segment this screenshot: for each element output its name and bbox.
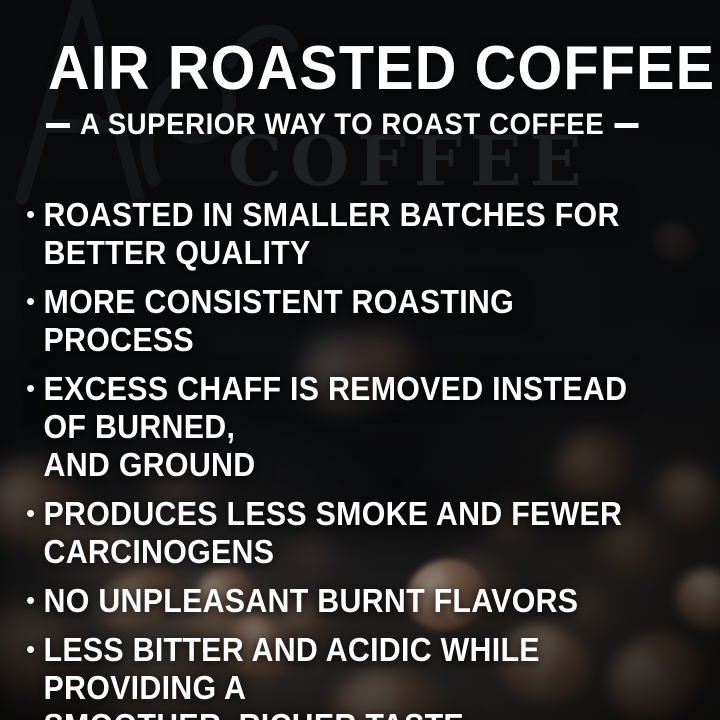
list-item-line: PRODUCES LESS SMOKE AND FEWER CARCINOGEN… [44, 495, 623, 570]
list-item-text: LESS BITTER AND ACIDIC WHILE PROVIDING A… [38, 631, 658, 720]
list-item: • EXCESS CHAFF IS REMOVED INSTEAD OF BUR… [26, 370, 712, 484]
list-item-line: MORE CONSISTENT ROASTING PROCESS [44, 283, 514, 358]
air-roasted-coffee-poster: COFFEE AIR ROASTED COFFEE A SUPERIOR WAY… [0, 0, 720, 720]
list-item: • MORE CONSISTENT ROASTING PROCESS [26, 283, 712, 359]
bullet-dot-icon: • [26, 370, 38, 406]
list-item-line: EXCESS CHAFF IS REMOVED INSTEAD OF BURNE… [44, 370, 628, 445]
list-item-text: PRODUCES LESS SMOKE AND FEWER CARCINOGEN… [38, 495, 658, 571]
benefits-list: • ROASTED IN SMALLER BATCHES FOR BETTER … [26, 196, 712, 720]
dash-left-icon [46, 123, 70, 128]
subtitle: A SUPERIOR WAY TO ROAST COFFEE [46, 110, 638, 140]
subtitle-text: A SUPERIOR WAY TO ROAST COFFEE [80, 110, 604, 140]
bullet-dot-icon: • [26, 196, 38, 232]
list-item-line: ROASTED IN SMALLER BATCHES FOR BETTER QU… [44, 196, 620, 271]
list-item-text: EXCESS CHAFF IS REMOVED INSTEAD OF BURNE… [38, 370, 658, 484]
list-item: • NO UNPLEASANT BURNT FLAVORS [26, 582, 712, 620]
poster-content: AIR ROASTED COFFEE A SUPERIOR WAY TO ROA… [0, 0, 720, 720]
list-item: • LESS BITTER AND ACIDIC WHILE PROVIDING… [26, 631, 712, 720]
list-item: • PRODUCES LESS SMOKE AND FEWER CARCINOG… [26, 495, 712, 571]
list-item-line: AND GROUND [44, 446, 659, 484]
page-title: AIR ROASTED COFFEE [48, 38, 715, 100]
list-item-line: SMOOTHER, RICHER TASTE [44, 707, 659, 720]
dash-right-icon [614, 123, 638, 128]
list-item: • ROASTED IN SMALLER BATCHES FOR BETTER … [26, 196, 712, 272]
bullet-dot-icon: • [26, 495, 38, 531]
bullet-dot-icon: • [26, 631, 38, 667]
list-item-text: MORE CONSISTENT ROASTING PROCESS [38, 283, 658, 359]
list-item-line: NO UNPLEASANT BURNT FLAVORS [44, 582, 579, 619]
list-item-line: LESS BITTER AND ACIDIC WHILE PROVIDING A [44, 631, 540, 706]
list-item-text: NO UNPLEASANT BURNT FLAVORS [38, 582, 578, 620]
bullet-dot-icon: • [26, 283, 38, 319]
bullet-dot-icon: • [26, 582, 38, 618]
list-item-text: ROASTED IN SMALLER BATCHES FOR BETTER QU… [38, 196, 658, 272]
